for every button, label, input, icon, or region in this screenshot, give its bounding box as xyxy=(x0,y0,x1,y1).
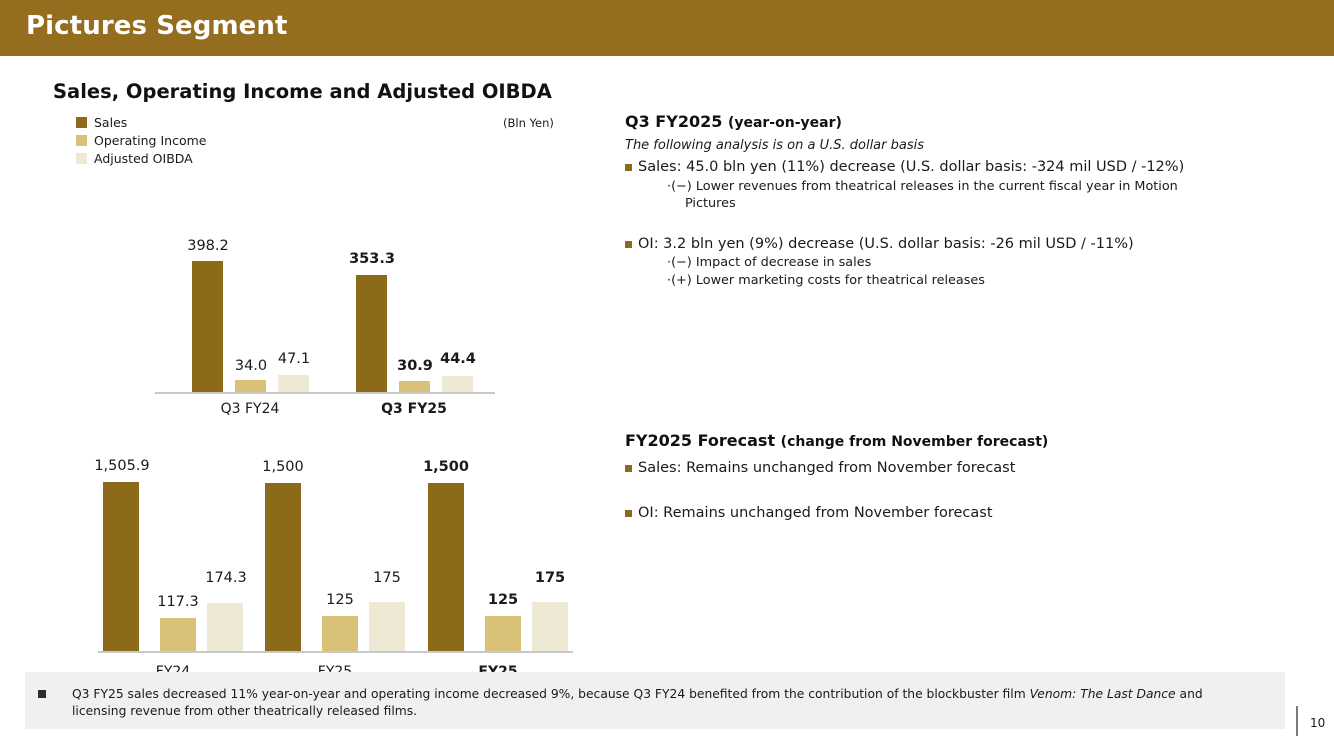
forecast-bullet-oi-text: OI: Remains unchanged from November fore… xyxy=(638,504,993,523)
q3-dollar-basis-note: The following analysis is on a U.S. doll… xyxy=(625,138,1334,153)
forecast-heading-main: FY2025 Forecast xyxy=(625,431,775,450)
q3-bullet-sales-text: Sales: 45.0 bln yen (11%) decrease (U.S.… xyxy=(638,158,1184,177)
bar-value-sales-q3fy24: 398.2 xyxy=(173,238,243,254)
forecast-bullet-sales-text: Sales: Remains unchanged from November f… xyxy=(638,459,1015,478)
bar-value-sales-fy24: 1,505.9 xyxy=(80,458,164,474)
chart-units-label: (Bln Yen) xyxy=(503,116,554,130)
bar-sales-fy24 xyxy=(103,482,139,651)
chart-section-title: Sales, Operating Income and Adjusted OIB… xyxy=(53,80,552,103)
quarterly-chart-axis xyxy=(155,392,495,394)
forecast-analysis-block: FY2025 Forecast (change from November fo… xyxy=(625,431,1334,523)
bar-sales-q3fy25 xyxy=(356,275,387,392)
charts-column: Sales, Operating Income and Adjusted OIB… xyxy=(0,56,620,656)
annual-bar-chart: 1,505.9 117.3 174.3 FY24 1,500 125 175 F… xyxy=(0,446,610,706)
bullet-square-icon xyxy=(625,465,632,472)
legend-item-adjusted-oibda: Adjusted OIBDA xyxy=(76,150,206,167)
bar-value-adjusted-oibda-fy24: 174.3 xyxy=(185,570,267,586)
forecast-section-heading: FY2025 Forecast (change from November fo… xyxy=(625,431,1334,450)
bar-adjusted-oibda-fy24 xyxy=(207,603,243,651)
bar-adjusted-oibda-fy25-nov xyxy=(369,602,405,651)
q3-bullet-oi: OI: 3.2 bln yen (9%) decrease (U.S. doll… xyxy=(625,235,1334,254)
footer-bullet-square-icon xyxy=(38,690,46,698)
bar-operating-income-fy25-feb xyxy=(485,616,521,651)
bullet-square-icon xyxy=(625,510,632,517)
page-header-bar: Pictures Segment xyxy=(0,0,1334,56)
forecast-bullet-oi: OI: Remains unchanged from November fore… xyxy=(625,504,1334,523)
bullet-square-icon xyxy=(625,241,632,248)
bar-operating-income-fy24 xyxy=(160,618,196,651)
q3-oi-subpoint-2: ·(+) Lower marketing costs for theatrica… xyxy=(667,273,1207,290)
forecast-heading-sub: (change from November forecast) xyxy=(781,434,1049,450)
legend-swatch-sales xyxy=(76,117,87,128)
bar-value-operating-income-fy25-feb: 125 xyxy=(469,592,537,608)
page-number-divider xyxy=(1296,706,1298,736)
quarterly-bar-chart: 398.2 34.0 47.1 Q3 FY24 353.3 30.9 44.4 … xyxy=(0,196,560,436)
page-title: Pictures Segment xyxy=(26,11,288,41)
bar-operating-income-q3fy25 xyxy=(399,381,430,392)
page-number: 10 xyxy=(1310,716,1325,730)
q3-bullet-oi-text: OI: 3.2 bln yen (9%) decrease (U.S. doll… xyxy=(638,235,1134,254)
bar-adjusted-oibda-fy25-feb xyxy=(532,602,568,651)
bar-value-adjusted-oibda-fy25-nov: 175 xyxy=(353,570,421,586)
legend-item-sales: Sales xyxy=(76,114,206,131)
category-label-q3fy25: Q3 FY25 xyxy=(364,401,464,418)
footer-text-part1: Q3 FY25 sales decreased 11% year-on-year… xyxy=(72,687,1030,701)
bar-sales-fy25-feb xyxy=(428,483,464,651)
footer-note-text: Q3 FY25 sales decreased 11% year-on-year… xyxy=(72,686,1237,721)
q3-analysis-block: Q3 FY2025 (year-on-year) The following a… xyxy=(625,112,1334,290)
bar-value-adjusted-oibda-q3fy24: 47.1 xyxy=(263,351,325,367)
legend-label-operating-income: Operating Income xyxy=(94,133,206,148)
bar-sales-fy25-nov xyxy=(265,483,301,651)
bar-value-sales-fy25-feb: 1,500 xyxy=(411,459,481,475)
q3-sales-subpoint-1: ·(−) Lower revenues from theatrical rele… xyxy=(667,179,1207,196)
annual-chart-axis xyxy=(98,651,573,653)
bar-operating-income-q3fy24 xyxy=(235,380,266,392)
category-label-q3fy24: Q3 FY24 xyxy=(200,401,300,418)
footer-text-italic-title: Venom: The Last Dance xyxy=(1030,687,1176,701)
legend-item-operating-income: Operating Income xyxy=(76,132,206,149)
bar-value-sales-q3fy25: 353.3 xyxy=(337,251,407,267)
bar-value-sales-fy25-nov: 1,500 xyxy=(248,459,318,475)
q3-oi-subpoint-1: ·(−) Impact of decrease in sales xyxy=(667,255,1207,272)
footer-note-box: Q3 FY25 sales decreased 11% year-on-year… xyxy=(25,672,1285,729)
chart-legend: Sales Operating Income Adjusted OIBDA xyxy=(76,114,206,168)
legend-label-adjusted-oibda: Adjusted OIBDA xyxy=(94,151,193,166)
bullet-square-icon xyxy=(625,164,632,171)
bar-adjusted-oibda-q3fy24 xyxy=(278,375,309,392)
q3-section-heading: Q3 FY2025 (year-on-year) xyxy=(625,112,1334,131)
q3-sales-subpoint-1-continued: Pictures xyxy=(685,196,1334,213)
q3-bullet-sales: Sales: 45.0 bln yen (11%) decrease (U.S.… xyxy=(625,158,1334,177)
q3-heading-main: Q3 FY2025 xyxy=(625,112,722,131)
q3-heading-sub: (year-on-year) xyxy=(728,115,842,131)
bar-value-operating-income-fy25-nov: 125 xyxy=(306,592,374,608)
bar-value-adjusted-oibda-fy25-feb: 175 xyxy=(516,570,584,586)
legend-swatch-adjusted-oibda xyxy=(76,153,87,164)
forecast-bullet-sales: Sales: Remains unchanged from November f… xyxy=(625,459,1334,478)
legend-label-sales: Sales xyxy=(94,115,127,130)
legend-swatch-operating-income xyxy=(76,135,87,146)
bar-adjusted-oibda-q3fy25 xyxy=(442,376,473,392)
bar-value-adjusted-oibda-q3fy25: 44.4 xyxy=(427,351,489,367)
bar-operating-income-fy25-nov xyxy=(322,616,358,651)
